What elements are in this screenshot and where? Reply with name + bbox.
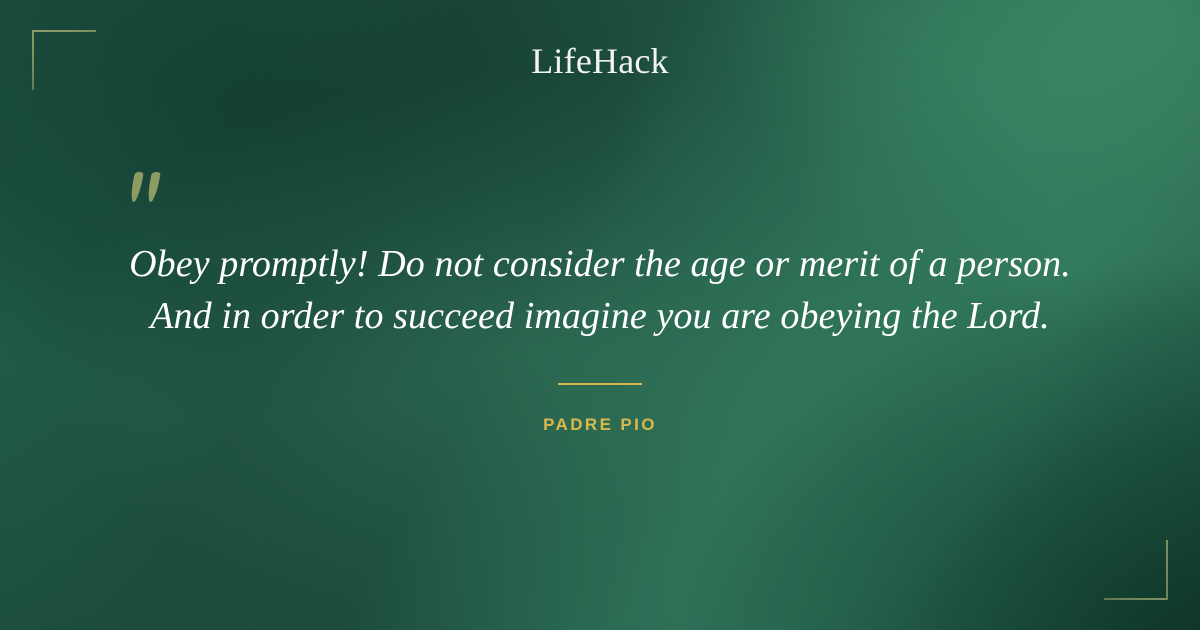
quote-author: PADRE PIO [0,415,1200,435]
quote-card: LifeHack Obey promptly! Do not consider … [0,0,1200,630]
card-content: LifeHack Obey promptly! Do not consider … [0,0,1200,630]
quote-text-block: Obey promptly! Do not consider the age o… [0,238,1200,342]
quote-line-2: And in order to succeed imagine you are … [0,290,1200,342]
brand-logo: LifeHack [0,40,1200,82]
attribution-divider [558,383,642,385]
quote-line-1: Obey promptly! Do not consider the age o… [0,238,1200,290]
quote-mark-icon [130,172,172,216]
quote-mark-stroke-right [146,172,161,202]
quote-mark-stroke-left [129,172,144,202]
